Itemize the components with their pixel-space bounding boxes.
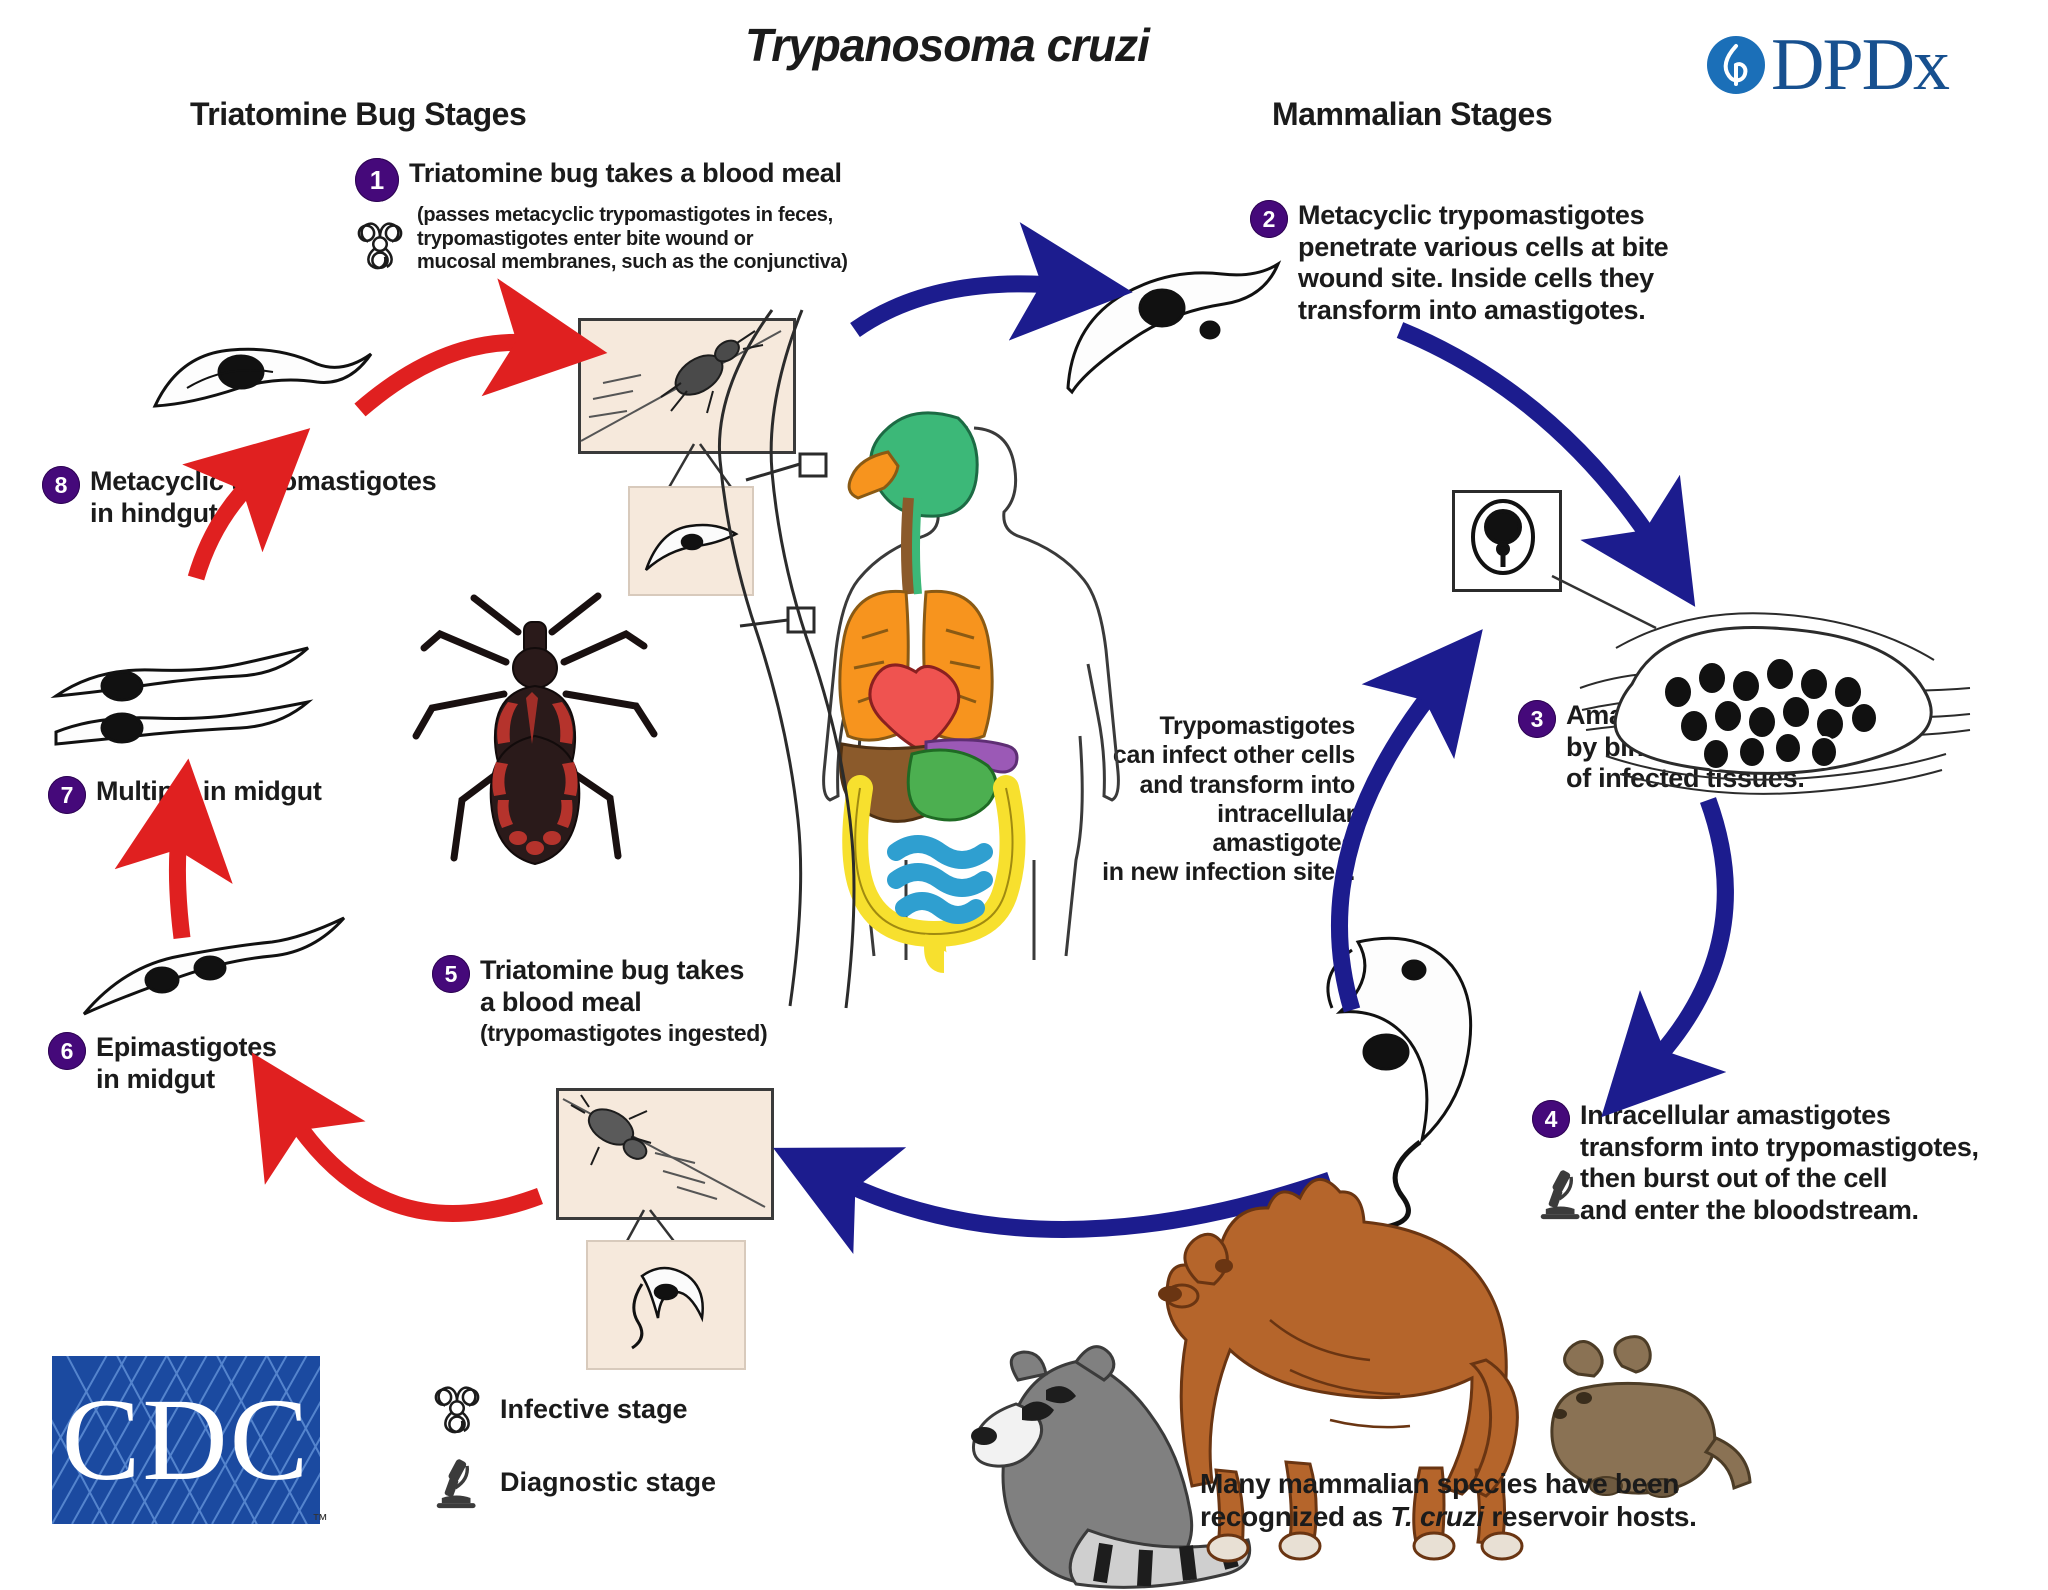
small-intestine-organ: [896, 844, 984, 915]
step-number-badge: 2: [1250, 200, 1288, 238]
arrow-amastigotes-to-trypomastigotes: [1648, 800, 1725, 1068]
rectum-organ: [935, 936, 944, 962]
reservoir-note-line-1: Many mammalian species have been: [1200, 1468, 1840, 1501]
bite-site-leader-lines: [640, 310, 840, 1010]
section-header-triatomine: Triatomine Bug Stages: [190, 96, 526, 133]
step-6-line-2: in midgut: [96, 1064, 277, 1096]
step-4-line-2: transform into trypomastigotes,: [1580, 1132, 1979, 1164]
cdc-trademark: ™: [312, 1512, 328, 1530]
step-8: 8 Metacyclic trypomastigotes in hindgut: [42, 466, 452, 529]
step-4-line-3: then burst out of the cell: [1580, 1163, 1979, 1195]
arrow-ingested-to-epimastigotes: [288, 1110, 540, 1213]
amastigote-inset-box: [1452, 490, 1562, 592]
single-amastigote-illustration: [1455, 493, 1553, 583]
step-6: 6 Epimastigotes in midgut: [48, 1032, 388, 1095]
step-1: 1 Triatomine bug takes a blood meal (pas…: [355, 158, 875, 275]
epimastigote-illustration: [70, 910, 370, 1040]
dpdx-label: DPDx: [1771, 28, 1948, 102]
step-8-line-2: in hindgut: [90, 498, 436, 530]
step-2-line-1: Metacyclic trypomastigotes: [1298, 200, 1668, 232]
legend-item-infective: Infective stage: [430, 1382, 716, 1436]
legend-label-diagnostic: Diagnostic stage: [500, 1467, 716, 1498]
legend-label-infective: Infective stage: [500, 1394, 688, 1425]
step-1-sub-line-2: trypomastigotes enter bite wound or: [417, 228, 848, 252]
trypomastigote-closeup-illustration: [588, 1242, 744, 1368]
section-header-mammalian: Mammalian Stages: [1272, 96, 1552, 133]
metacyclic-trypomastigote-illustration: [135, 310, 395, 450]
cdc-logo-label: CDC: [52, 1356, 320, 1524]
triatomine-bug-illustration: [410, 586, 660, 866]
step-number-badge: 3: [1518, 700, 1556, 738]
dpdx-circle-icon: [1705, 34, 1767, 96]
reservoir-note-line-2a: recognized as: [1200, 1501, 1390, 1532]
amastigote-nest-illustration: [1576, 560, 1976, 810]
trypomastigote-inset-bottom: [586, 1240, 746, 1370]
dividing-epimastigotes-illustration: [42, 634, 342, 794]
arrow-bite-to-cells: [855, 284, 1065, 330]
reservoir-note-line-2b: reservoir hosts.: [1484, 1501, 1697, 1532]
step-4-line-4: and enter the bloodstream.: [1580, 1195, 1979, 1227]
step-2-line-2: penetrate various cells at bite: [1298, 232, 1668, 264]
step-1-sub-line-3: mucosal membranes, such as the conjuncti…: [417, 251, 848, 275]
step-5-sub-line-1: (trypomastigotes ingested): [480, 1020, 767, 1047]
microscope-icon: [430, 1454, 484, 1510]
step-8-line-1: Metacyclic trypomastigotes: [90, 466, 436, 498]
cdc-logo: CDC: [52, 1356, 320, 1524]
biohazard-icon: [353, 218, 407, 272]
step-2-line-3: wound site. Inside cells they: [1298, 263, 1668, 295]
step-number-badge: 8: [42, 466, 80, 504]
step-number-badge: 1: [355, 158, 399, 202]
step-4-line-1: Intracellular amastigotes: [1580, 1100, 1979, 1132]
metacyclic-trypomastigote-illustration: [1060, 236, 1320, 396]
dpdx-logo: DPDx: [1705, 28, 1948, 102]
page-title: Trypanosoma cruzi: [745, 18, 1149, 72]
step-1-title: Triatomine bug takes a blood meal: [409, 158, 842, 190]
biohazard-icon: [430, 1382, 484, 1436]
reservoir-species-name: T. cruzi: [1390, 1501, 1484, 1532]
step-4: 4 Intracellular amastigotes transform in…: [1532, 1100, 2002, 1226]
step-1-sub-line-1: (passes metacyclic trypomastigotes in fe…: [417, 204, 848, 228]
legend: Infective stage Diagnostic stage: [430, 1382, 716, 1510]
reservoir-note: Many mammalian species have been recogni…: [1200, 1468, 1840, 1534]
step-2-line-4: transform into amastigotes.: [1298, 295, 1668, 327]
legend-item-diagnostic: Diagnostic stage: [430, 1454, 716, 1510]
bug-bite-inset-bottom: [556, 1088, 774, 1220]
step-number-badge: 5: [432, 955, 470, 993]
bug-on-skin-illustration: [559, 1091, 771, 1217]
